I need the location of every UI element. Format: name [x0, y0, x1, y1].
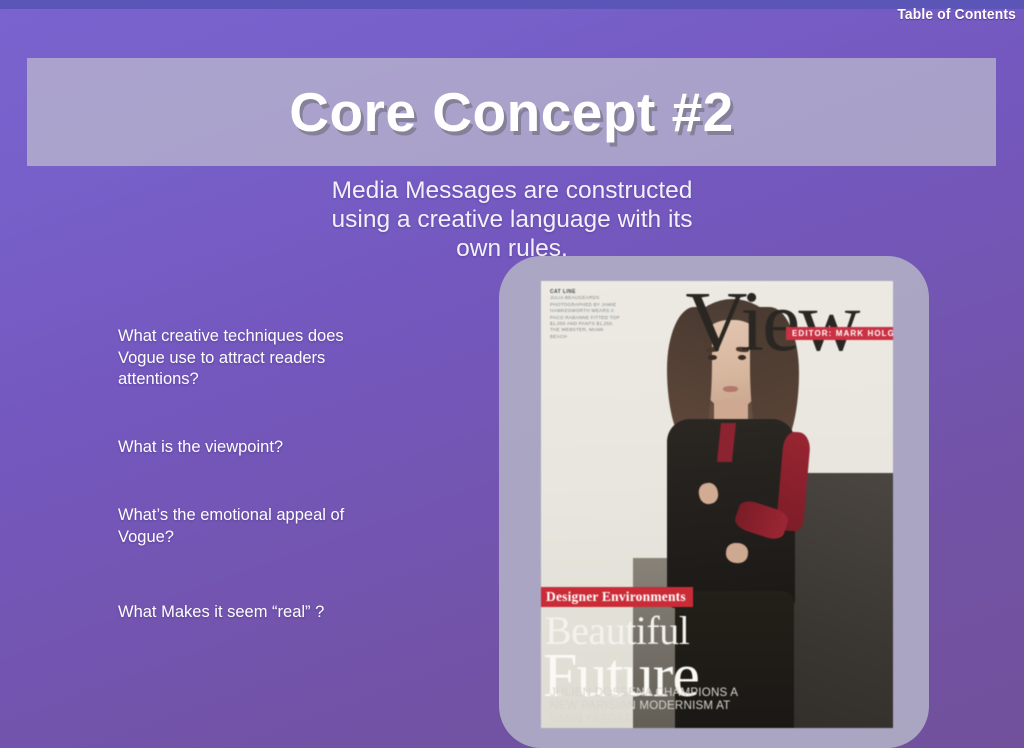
cover-credit-body: JULIA BEAUGEARDS PHOTOGRAPHED BY JAMIE H…: [550, 295, 620, 340]
top-accent-band: [0, 0, 1024, 9]
cover-credit-block: CAT LINE JULIA BEAUGEARDS PHOTOGRAPHED B…: [550, 289, 620, 340]
cover-deck-line3: VANN YAEGER: [550, 713, 738, 727]
list-item: What’s the emotional appeal of Vogue?: [118, 505, 386, 548]
slide-subtitle: Media Messages are constructed using a c…: [317, 176, 707, 263]
model-lips: [723, 386, 738, 392]
cover-section-strip: Designer Environments: [541, 587, 693, 607]
question-list: What creative techniques does Vogue use …: [118, 326, 386, 624]
title-banner: Core Concept #2: [27, 58, 996, 166]
list-item: What is the viewpoint?: [118, 437, 386, 459]
list-item: What creative techniques does Vogue use …: [118, 326, 386, 391]
cover-deck-text: JULIEN DOSSENA CHAMPIONS A NEW PARISIAN …: [550, 686, 738, 727]
cover-masthead: View: [685, 281, 858, 367]
cover-editor-strip: EDITOR: MARK HOLG: [786, 327, 893, 340]
cover-deck-line2: NEW PARISIAN MODERNISM AT: [550, 699, 738, 713]
table-of-contents-link[interactable]: Table of Contents: [897, 6, 1016, 24]
cover-deck-line1: JULIEN DOSSENA CHAMPIONS A: [550, 686, 738, 700]
page-title: Core Concept #2: [289, 83, 734, 141]
list-item: What Makes it seem “real” ?: [118, 602, 386, 624]
magazine-cover-image: View EDITOR: MARK HOLG CAT LINE JULIA BE…: [541, 281, 893, 728]
slide-canvas: Table of Contents Core Concept #2 Media …: [0, 0, 1024, 748]
